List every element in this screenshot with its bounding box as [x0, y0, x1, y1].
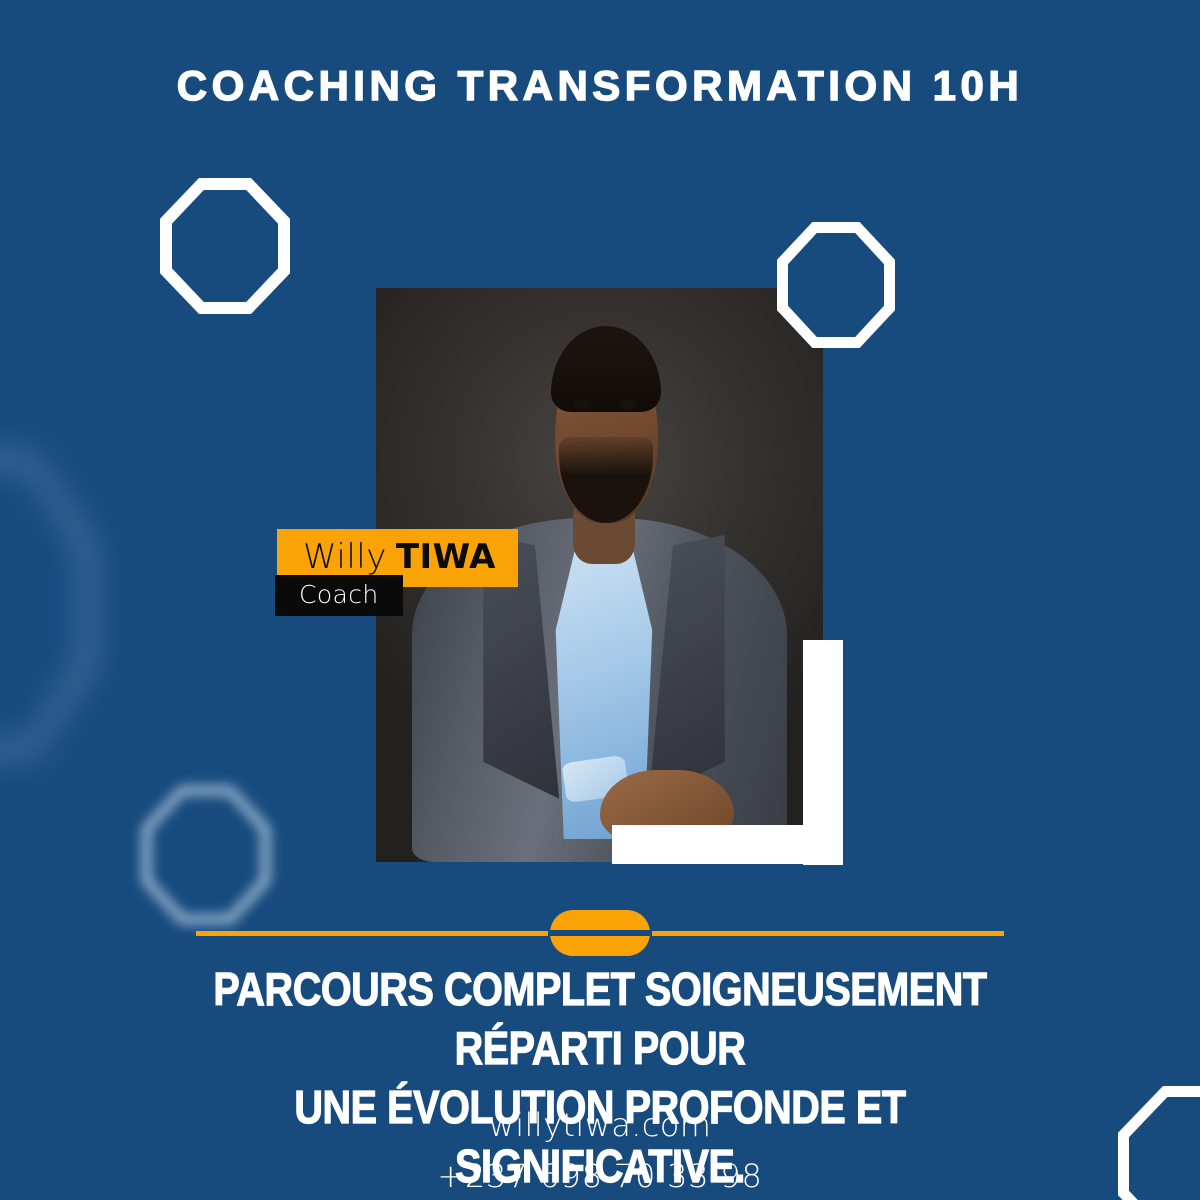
- poster-canvas: COACHING TRANSFORMATION 10H WillyTIWA Co…: [0, 0, 1200, 1200]
- octagon-outline-blurred-icon: [142, 786, 270, 924]
- octagon-inner-cutout: [788, 233, 884, 337]
- contact-phone[interactable]: +237 698 70 33 98: [0, 1155, 1200, 1198]
- octagon-outline-icon: [777, 222, 895, 348]
- section-divider: [196, 910, 1004, 956]
- corner-bracket-horizontal-bar: [612, 825, 843, 864]
- divider-knob-slit: [548, 930, 652, 936]
- page-title: COACHING TRANSFORMATION 10H: [0, 62, 1200, 110]
- coach-role-badge: Coach: [275, 575, 403, 616]
- coach-last-name: TIWA: [396, 537, 496, 577]
- octagon-outline-blurred-icon: [0, 455, 92, 755]
- coach-first-name: Willy: [303, 537, 387, 577]
- octagon-inner-cutout: [0, 465, 82, 745]
- contact-website[interactable]: willytiwa.com: [0, 1104, 1200, 1147]
- tagline-line-1: PARCOURS COMPLET SOIGNEUSEMENT RÉPARTI P…: [170, 960, 1030, 1078]
- octagon-outline-icon: [160, 178, 290, 314]
- octagon-inner-cutout: [151, 795, 261, 915]
- contact-block: willytiwa.com +237 698 70 33 98: [0, 1104, 1200, 1198]
